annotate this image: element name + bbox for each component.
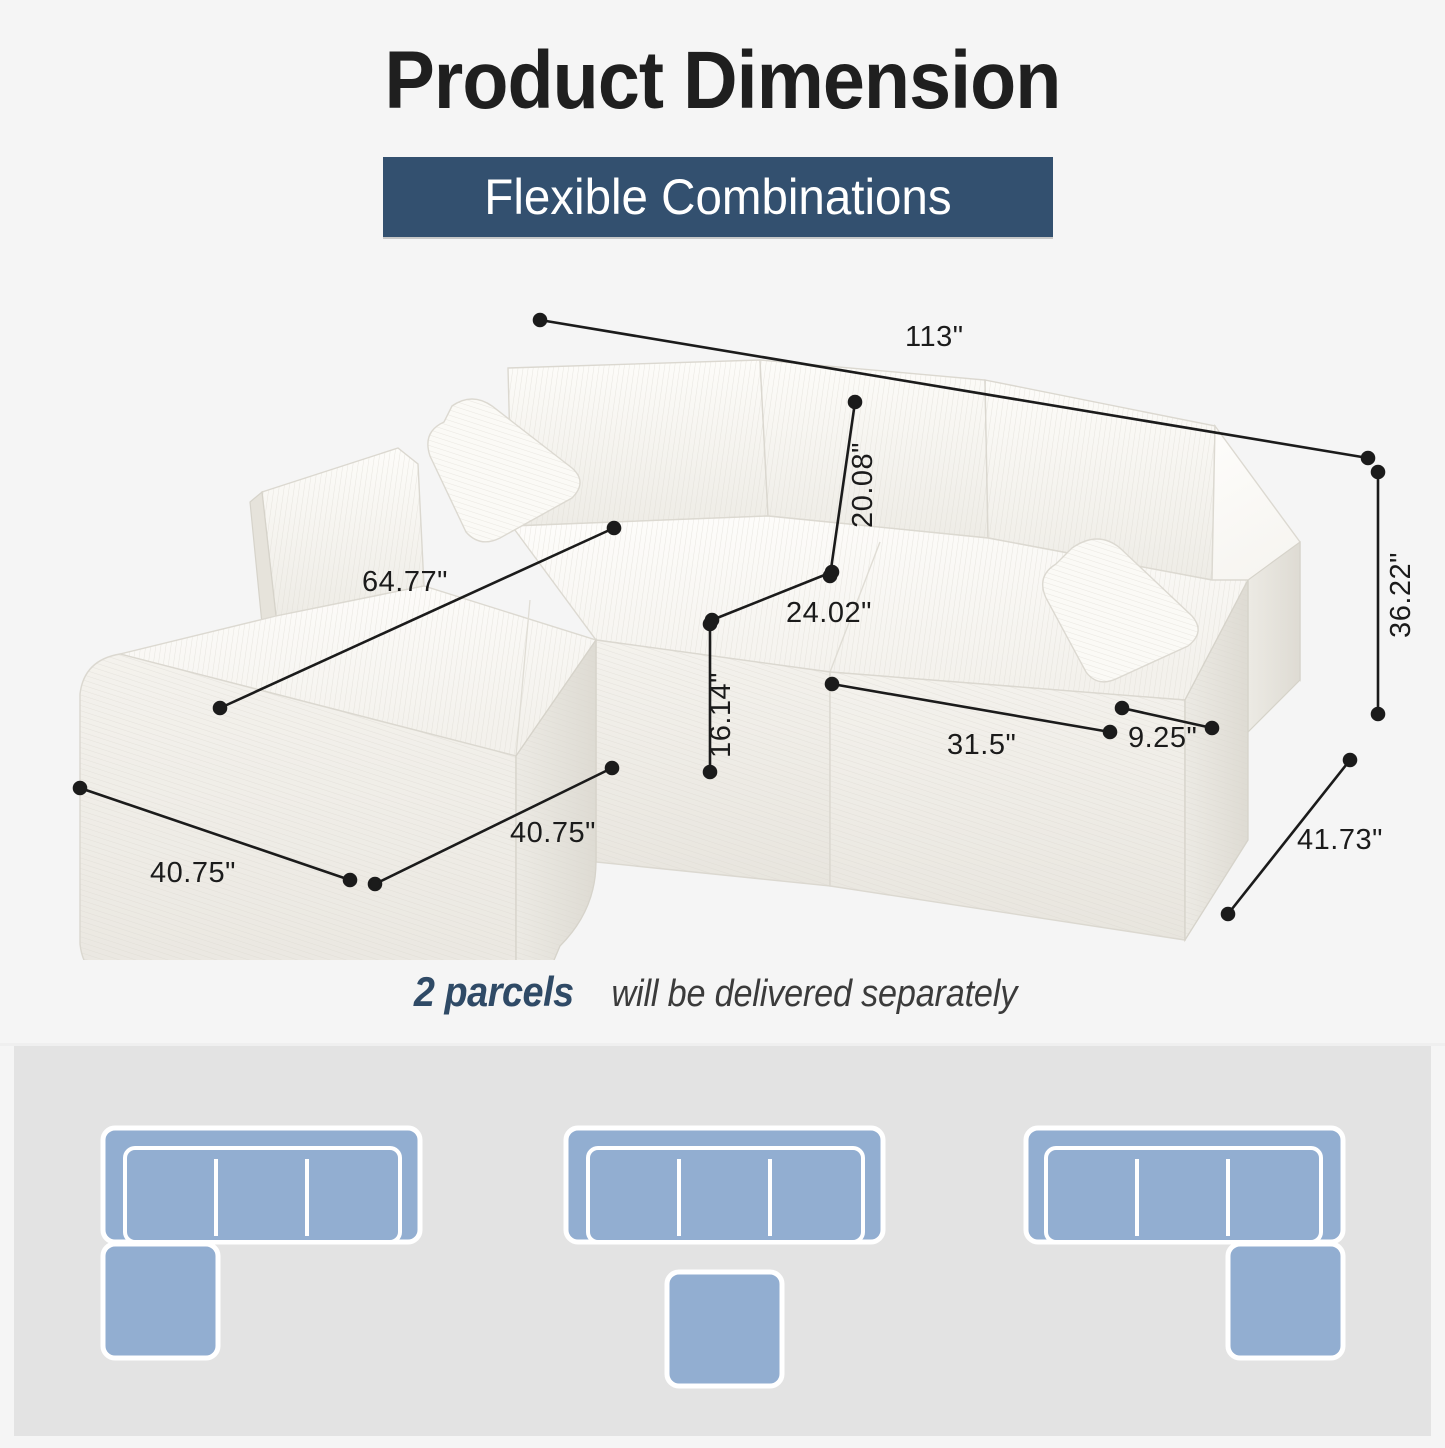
product-illustration: 113" 20.08" 64.77" 24.02" 16.14" 31.5" 9… bbox=[0, 280, 1445, 960]
dimension-label-chaise-length: 64.77" bbox=[362, 567, 448, 597]
dimension-label-chaise-depth: 40.75" bbox=[150, 858, 236, 888]
shipping-note: 2 parcelswill be delivered separately bbox=[0, 968, 1445, 1016]
parcel-count-label: 2 parcels bbox=[414, 968, 574, 1016]
config-separate-ottoman bbox=[566, 1128, 883, 1386]
dimension-label-overall-height: 36.22" bbox=[1386, 552, 1416, 638]
dimension-label-armrest-width: 9.25" bbox=[1128, 723, 1197, 753]
infographic-root: Product Dimension Flexible Combinations bbox=[0, 0, 1445, 1445]
dimension-label-seat-height: 16.14" bbox=[706, 672, 736, 758]
dimension-label-module-width: 40.75" bbox=[510, 818, 596, 848]
dimension-label-seat-depth: 24.02" bbox=[786, 598, 872, 628]
config-right-chaise bbox=[1026, 1128, 1343, 1358]
config-left-chaise bbox=[103, 1128, 420, 1358]
dimension-label-seat-width: 31.5" bbox=[947, 730, 1016, 760]
configuration-panel bbox=[0, 1043, 1445, 1448]
dimension-label-overall-depth: 41.73" bbox=[1297, 825, 1383, 855]
subtitle-banner-label: Flexible Combinations bbox=[484, 171, 951, 223]
page-title: Product Dimension bbox=[58, 38, 1387, 124]
subtitle-banner: Flexible Combinations bbox=[383, 157, 1053, 237]
dimension-label-overall-width: 113" bbox=[905, 322, 964, 352]
parcel-note-label: will be delivered separately bbox=[612, 973, 1018, 1016]
configuration-diagrams bbox=[0, 1046, 1445, 1448]
dimension-label-backrest-height: 20.08" bbox=[848, 442, 878, 528]
